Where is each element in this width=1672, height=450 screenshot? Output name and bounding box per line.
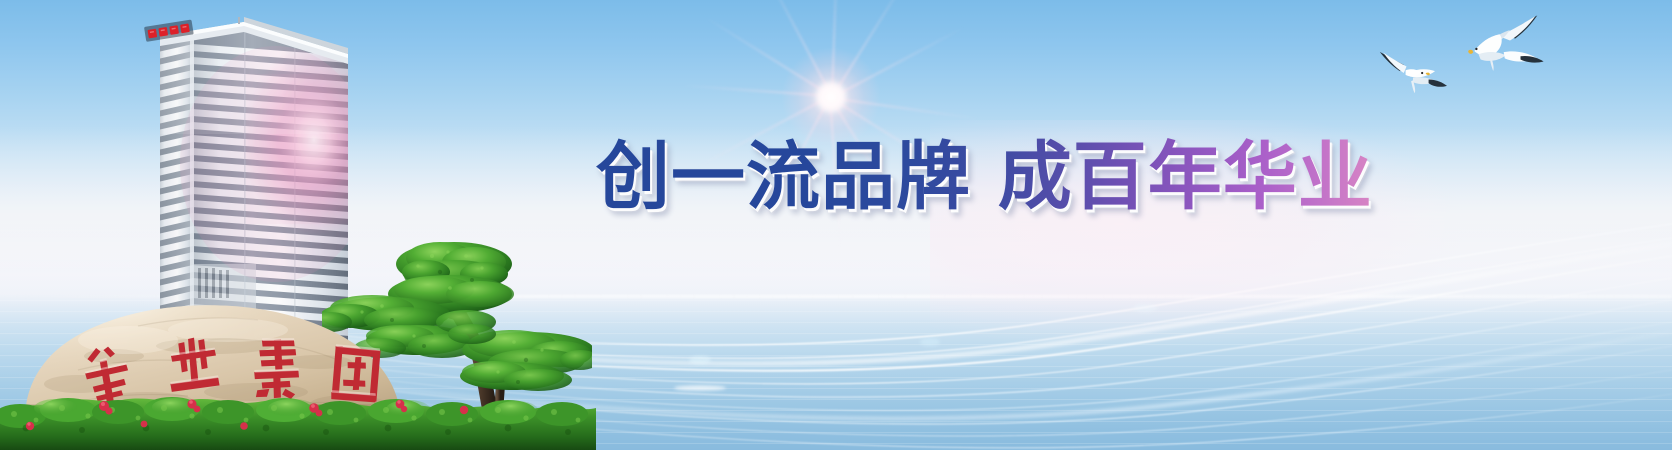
banner-hero: 创一流品牌 成百年华业 创一流品牌 成百年华业	[0, 0, 1672, 450]
seagull-icon	[1468, 15, 1543, 71]
slogan-text: 创一流品牌 成百年华业	[596, 134, 1373, 220]
seagull-icon	[1380, 52, 1447, 93]
seagull-group	[1370, 6, 1560, 116]
sun-core	[816, 82, 846, 112]
hedge-groundcover	[0, 382, 596, 450]
slogan-headline: 创一流品牌 成百年华业 创一流品牌 成百年华业	[596, 131, 1356, 223]
